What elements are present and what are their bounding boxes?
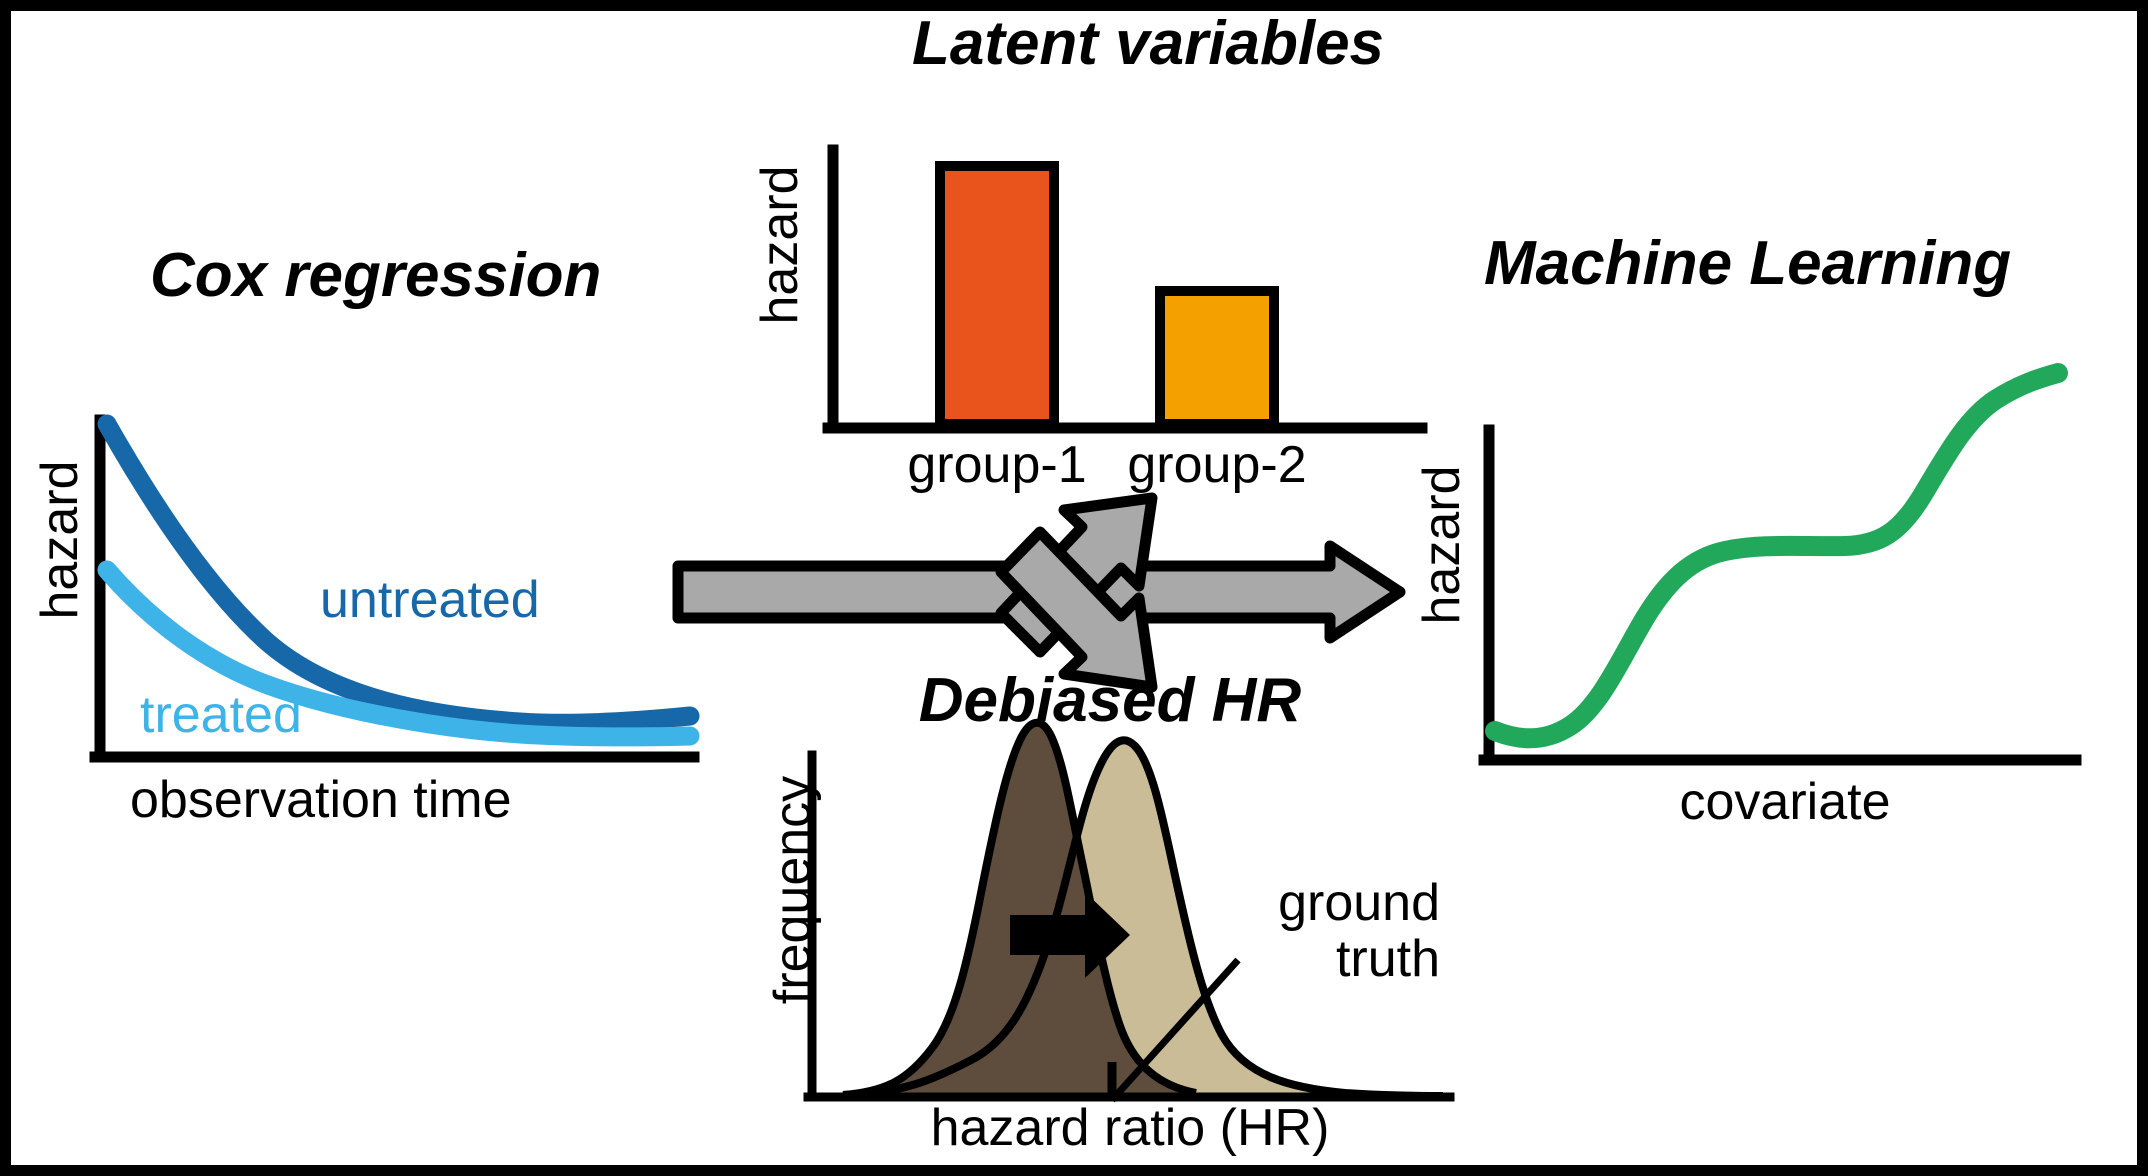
machine-learning-panel bbox=[0, 0, 2148, 1176]
ml-x-axis-label: covariate bbox=[1489, 772, 2081, 832]
ml-y-axis-label: hazard bbox=[1412, 455, 1472, 635]
ml-panel-title: Machine Learning bbox=[1484, 228, 2011, 299]
ml-hazard-curve bbox=[1495, 373, 2058, 738]
figure-canvas: Cox regression hazard observation time u… bbox=[0, 0, 2148, 1176]
